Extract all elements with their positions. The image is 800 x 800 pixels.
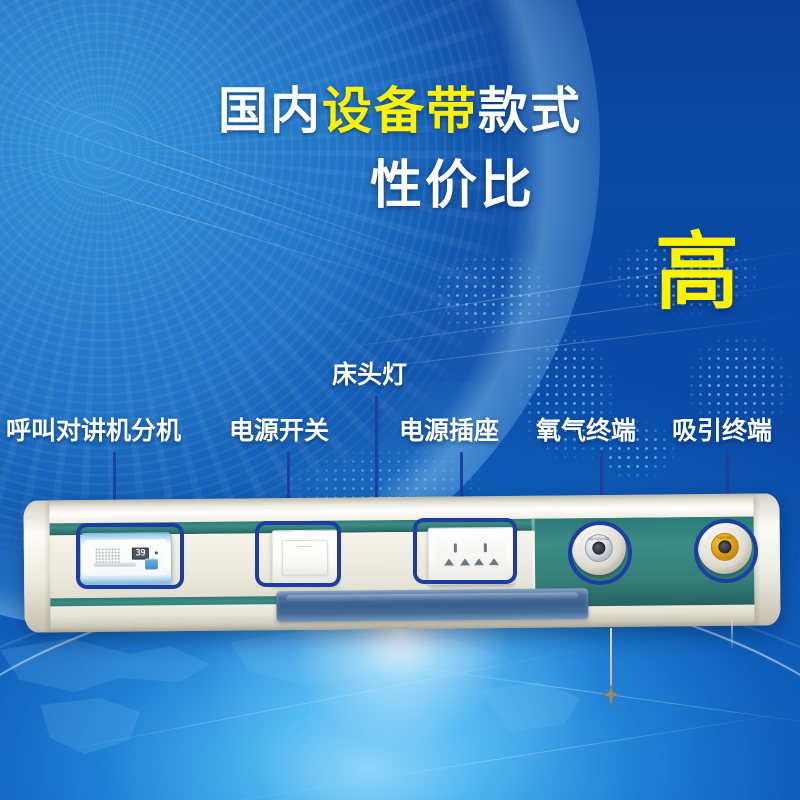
pull-cord-knob-icon[interactable] — [600, 685, 622, 707]
oxygen-terminal[interactable]: OXYGEN O2 — [572, 521, 627, 576]
call-button-icon[interactable] — [145, 558, 158, 569]
lamp-gloss — [286, 592, 578, 602]
suction-outlet-text: VACUUM — [712, 536, 738, 540]
switch-mark — [298, 546, 312, 547]
power-socket[interactable] — [428, 527, 515, 585]
callout-label-bed-lamp: 床头灯 — [332, 362, 407, 387]
suction-outlet-icon[interactable]: VACUUM — [711, 533, 739, 561]
bedhead-unit-body: 39 — [23, 493, 780, 632]
intercom-slot — [94, 563, 136, 567]
callout-label-power-switch: 电源开关 — [229, 418, 329, 443]
socket-faceplate — [436, 535, 506, 577]
led-indicator-icon — [155, 551, 158, 554]
pull-cord-secondary — [731, 614, 733, 648]
bedhead-unit: 39 — [24, 497, 780, 629]
rocker-switch-icon[interactable] — [282, 540, 328, 575]
unit-end-cap-right — [753, 493, 780, 625]
power-switch[interactable] — [272, 530, 339, 586]
oxygen-outlet-icon[interactable]: OXYGEN O2 — [585, 534, 613, 562]
callout-label-power-socket: 电源插座 — [399, 418, 499, 443]
callout-label-intercom: 呼叫对讲机分机 — [6, 418, 181, 443]
suction-port-hole — [718, 540, 731, 553]
speaker-grille-icon — [95, 548, 121, 563]
oxygen-port-hole — [592, 542, 605, 555]
product-banner: 国内设备带款式 性价比 高 呼叫对讲机分机 电源开关 床头灯 电源插座 氧气终端… — [0, 0, 800, 800]
intercom-faceplate: 39 — [86, 539, 166, 576]
oxygen-outlet-text: OXYGEN O2 — [586, 537, 612, 541]
suction-terminal[interactable]: VACUUM — [698, 520, 753, 575]
nurse-call-intercom[interactable]: 39 — [80, 532, 172, 585]
universal-socket-icon — [443, 543, 499, 570]
callout-label-suction: 吸引终端 — [672, 418, 772, 443]
lamp-strip-icon[interactable] — [276, 588, 588, 622]
unit-end-cap-left — [23, 500, 50, 632]
callout-label-oxygen: 氧气终端 — [536, 418, 636, 443]
